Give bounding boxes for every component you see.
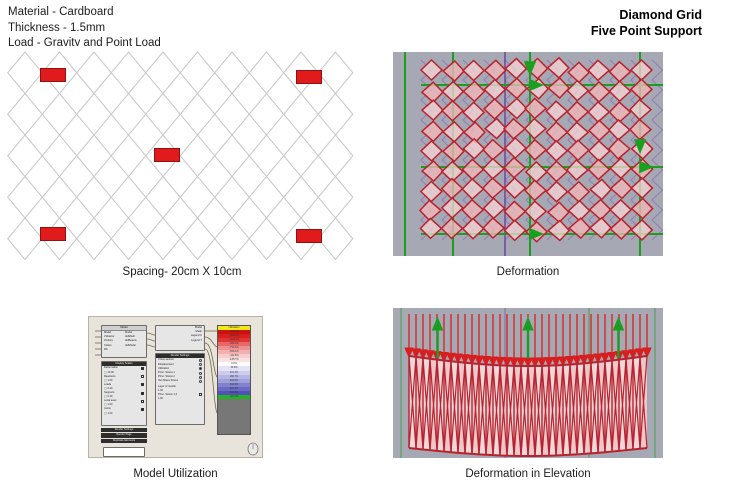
gh-extra-checkbox[interactable] (199, 393, 202, 396)
gh-option-radio-0[interactable] (199, 359, 202, 362)
specification-list: Material - Cardboard Thickness - 1.5mm L… (8, 5, 328, 52)
support-top-left[interactable] (40, 68, 66, 82)
support-center[interactable] (154, 148, 180, 162)
gh-text-panel[interactable] (103, 447, 145, 457)
support-bottom-right[interactable] (296, 229, 322, 243)
gh-option-radio-5[interactable] (199, 380, 202, 383)
caption-deformation: Deformation (393, 266, 663, 278)
gh-node-model-view[interactable]: Model Mesh Legend C Legend T (155, 325, 205, 351)
diamond-grid-plan (0, 46, 364, 261)
gh-button-render-page[interactable]: Render Page (101, 433, 147, 437)
gh-slider-local-axes[interactable]: Local axes (102, 399, 146, 403)
gh-slider-checkbox-1[interactable] (141, 375, 144, 378)
title-line-2: Five Point Support (591, 23, 702, 39)
gh-slider-checkbox-2[interactable] (141, 383, 144, 386)
gh-in-4[interactable]: RS (102, 348, 123, 352)
gh-button-duplicate-elements[interactable]: Duplicate Elements (101, 439, 147, 443)
gh-extra-label: Princ. Stress 1,2 (156, 393, 204, 397)
caption-model-utilization: Model Utilization (88, 468, 263, 480)
gh-slider-checkbox-3[interactable] (141, 392, 144, 395)
cursor-icon (245, 441, 261, 457)
legend-band-17: -467.2% (218, 395, 250, 399)
gh-slider-loads[interactable]: Loads (102, 383, 146, 387)
gh-out-3[interactable]: defModel (123, 344, 146, 348)
gh-button-render-settings[interactable]: Render Settings (101, 428, 147, 432)
caption-deformation-elevation: Deformation in Elevation (393, 468, 663, 480)
gh-slider-deformation[interactable]: Deformation (102, 366, 146, 370)
support-bottom-left[interactable] (40, 227, 66, 241)
spec-thickness: Thickness - 1.5mm (8, 21, 328, 37)
gh-extra-value[interactable]: 1.00 (156, 397, 204, 401)
model-utilization-canvas[interactable]: Model Model zSFactor zColors Colors RS M… (88, 316, 263, 458)
gh-slider-reactions[interactable]: Reactions (102, 375, 146, 379)
gh-option-van-mises-stress[interactable]: Van Mises Stress (156, 379, 204, 383)
spec-material: Material - Cardboard (8, 5, 328, 21)
gh-slider-joints[interactable]: Joints (102, 407, 146, 411)
gh-layer-label: Layer of results (156, 385, 204, 389)
gh-slider-checkbox-0[interactable] (141, 367, 144, 370)
gh-option-radio-1[interactable] (199, 363, 202, 366)
gh-slider-checkbox-5[interactable] (141, 408, 144, 411)
gh-node-model[interactable]: Model Model zSFactor zColors Colors RS M… (101, 325, 147, 358)
page-title: Diamond Grid Five Point Support (591, 7, 702, 39)
gh-option-radio-2[interactable] (199, 367, 202, 370)
gh-button-strip[interactable]: Render Settings Render Page Duplicate El… (101, 428, 147, 445)
caption-spacing: Spacing- 20cm X 10cm (0, 266, 364, 278)
gh-option-radio-4[interactable] (199, 376, 202, 379)
gh-mv-out-3[interactable]: Legend T (156, 339, 204, 343)
gh-node-render-settings[interactable]: Render Settings Cross sectionDisplacemen… (155, 353, 205, 425)
support-top-right[interactable] (296, 70, 322, 84)
deformation-mesh (393, 52, 663, 256)
gh-slider-supports[interactable]: Supports (102, 391, 146, 395)
deformation-elevation-mesh (393, 308, 663, 458)
deformation-elevation-viewport[interactable] (393, 308, 663, 458)
utilization-legend[interactable]: Utilization-1100.0%-1039.6%-1022.2%-960.… (217, 325, 251, 435)
deformation-viewport[interactable] (393, 52, 663, 256)
gh-slider-value-5[interactable]: ◯ 1.00 (102, 412, 146, 416)
title-line-1: Diamond Grid (591, 7, 702, 23)
gh-option-radio-3[interactable] (199, 372, 202, 375)
gh-node-display-scales[interactable]: Display Scales Deformation◯ 10.00Reactio… (101, 361, 147, 426)
gh-slider-checkbox-4[interactable] (141, 400, 144, 403)
